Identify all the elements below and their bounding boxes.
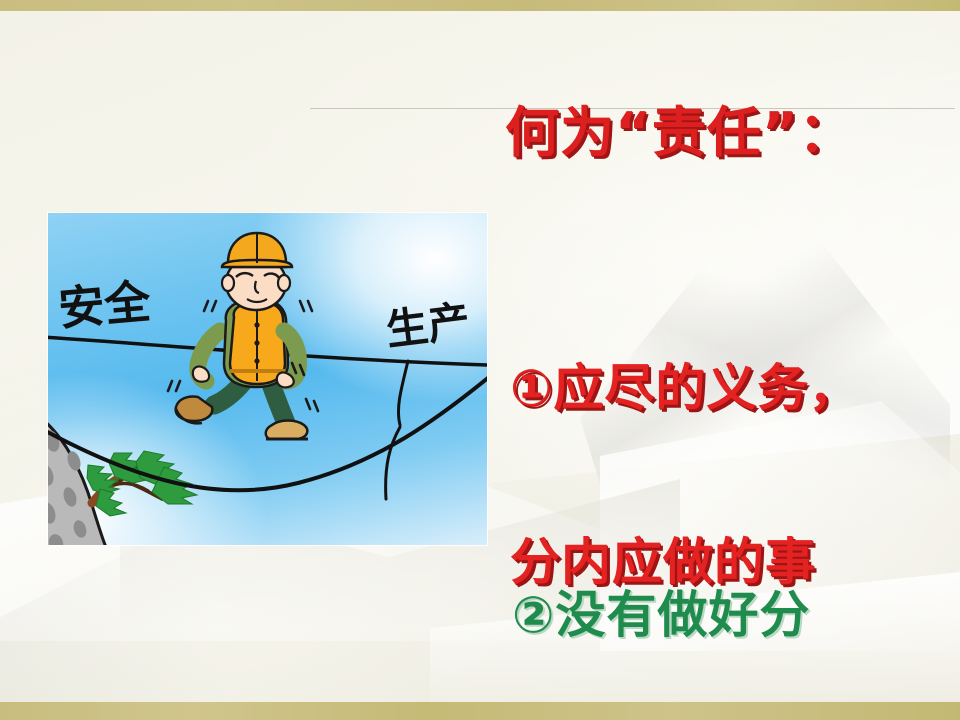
svg-text:安全: 安全 bbox=[56, 274, 153, 336]
cartoon-image: 安全 生产 bbox=[48, 213, 487, 545]
cartoon-illustration: 安全 生产 bbox=[48, 213, 487, 545]
caption-right-shengchan: 生产 bbox=[383, 296, 472, 355]
slide-canvas: 安全 生产 何为“责任”： ①应尽的义务， 分内应做的事 ②没有做好分 内事而承… bbox=[0, 0, 960, 720]
point-2-line-1: ②没有做好分 bbox=[512, 583, 818, 647]
top-gold-border bbox=[0, 0, 960, 11]
cliff-crack-right bbox=[386, 361, 408, 499]
point-1-line-1: ①应尽的义务， bbox=[510, 359, 859, 417]
page-title: 何为“责任”： bbox=[505, 103, 854, 163]
svg-text:生产: 生产 bbox=[383, 296, 472, 355]
ink-wash-left bbox=[0, 531, 300, 711]
caption-left-anquan: 安全 bbox=[56, 274, 153, 336]
tightrope-worker bbox=[168, 233, 318, 439]
bottom-gold-border bbox=[0, 702, 960, 720]
point-2-green: ②没有做好分 内事而承担的 过失 bbox=[512, 455, 818, 720]
